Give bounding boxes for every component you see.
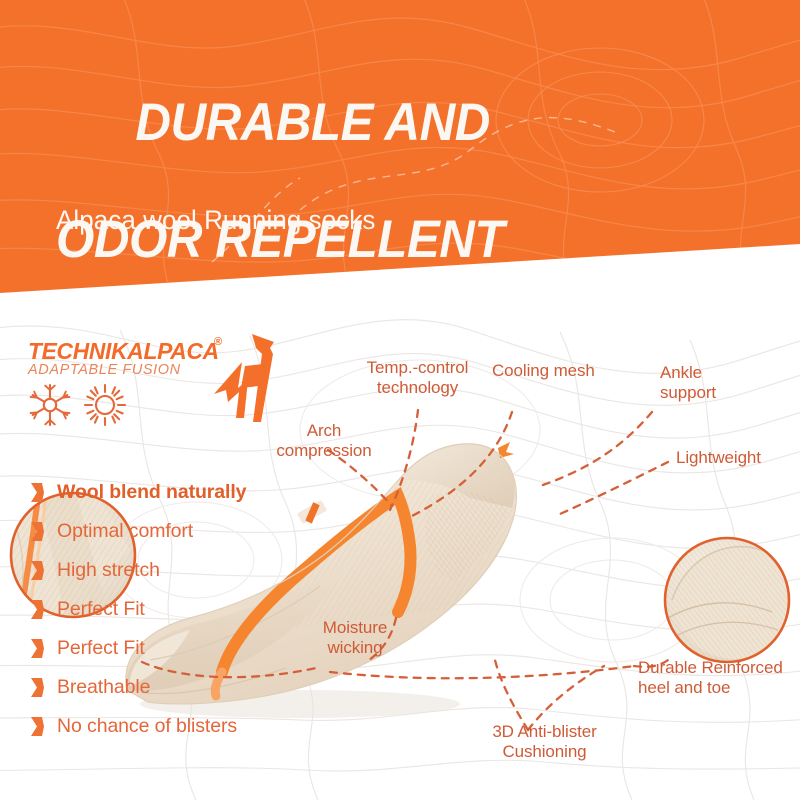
list-item-label: Wool blend naturally bbox=[48, 481, 246, 504]
leader-cushion bbox=[494, 656, 528, 730]
chevron-right-icon bbox=[26, 639, 48, 658]
chevron-right-icon bbox=[26, 522, 48, 541]
snowflake-icon bbox=[31, 385, 70, 425]
heel-toe-closeup-inset bbox=[665, 538, 795, 662]
leader-ankle-support bbox=[540, 412, 652, 486]
list-item-label: Perfect Fit bbox=[48, 637, 145, 660]
callout-arch-compression: Arch compression bbox=[254, 421, 394, 461]
chevron-right-icon bbox=[26, 483, 48, 502]
sun-icon bbox=[85, 385, 125, 425]
callout-temp-control: Temp.-control technology bbox=[355, 358, 480, 398]
list-item: Breathable bbox=[26, 669, 326, 705]
list-item: Wool blend naturally bbox=[26, 474, 326, 510]
page-title: DURABLE AND ODOR REPELLENT bbox=[56, 36, 504, 300]
callout-lightweight: Lightweight bbox=[676, 448, 796, 468]
list-item-label: High stretch bbox=[48, 559, 160, 582]
list-item: Optimal comfort bbox=[26, 513, 326, 549]
chevron-right-icon bbox=[26, 600, 48, 619]
header-banner: DURABLE AND ODOR REPELLENT bbox=[0, 0, 800, 300]
climate-icons bbox=[26, 382, 130, 428]
list-item-label: Optimal comfort bbox=[48, 520, 193, 543]
page-subtitle: Alpaca wool Running socks bbox=[56, 205, 375, 236]
list-item: Perfect Fit bbox=[26, 591, 326, 627]
chevron-right-icon bbox=[26, 717, 48, 736]
list-item: Perfect Fit bbox=[26, 630, 326, 666]
list-item: High stretch bbox=[26, 552, 326, 588]
callout-durable-heel-toe: Durable Reinforced heel and toe bbox=[638, 658, 800, 698]
chevron-right-icon bbox=[26, 561, 48, 580]
callout-anti-blister: 3D Anti-blister Cushioning bbox=[452, 722, 637, 762]
brand-name: TECHNIKALPACA bbox=[28, 338, 219, 365]
list-item: No chance of blisters bbox=[26, 708, 326, 744]
chevron-right-icon bbox=[26, 678, 48, 697]
brand-tagline: ADAPTABLE FUSION bbox=[28, 362, 181, 378]
infographic-page: DURABLE AND ODOR REPELLENT Alpaca wool R… bbox=[0, 0, 800, 800]
feature-list: Wool blend naturally Optimal comfort Hig… bbox=[26, 474, 326, 747]
headline-line-1: DURABLE AND bbox=[135, 93, 490, 152]
callout-cooling-mesh: Cooling mesh bbox=[492, 361, 617, 381]
callout-ankle-support: Ankle support bbox=[660, 363, 755, 403]
alpaca-logo-mark-icon bbox=[212, 332, 284, 424]
list-item-label: Perfect Fit bbox=[48, 598, 145, 621]
list-item-label: Breathable bbox=[48, 676, 150, 699]
leader-durable-heel-toe bbox=[330, 666, 634, 678]
callout-moisture-wicking: Moisture wicking bbox=[300, 618, 410, 658]
leader-lightweight bbox=[560, 462, 668, 514]
list-item-label: No chance of blisters bbox=[48, 715, 237, 738]
brand-logo: TECHNIKALPACA ® ADAPTABLE FUSION bbox=[22, 336, 284, 436]
